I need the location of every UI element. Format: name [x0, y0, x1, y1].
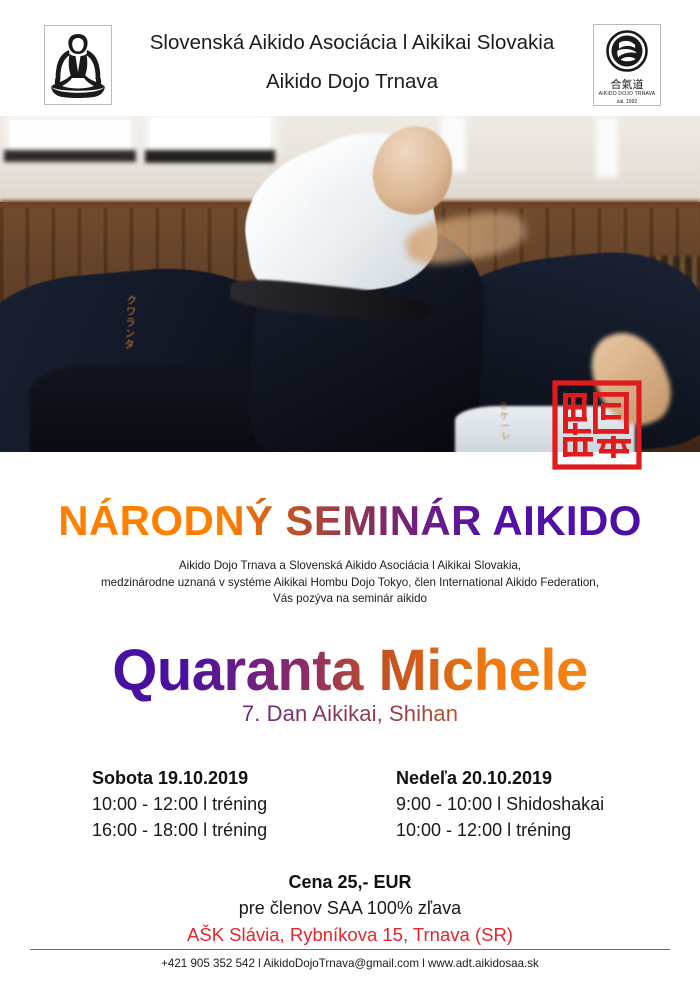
poster-header: Slovenská Aikido Asociácia l Aikikai Slo…: [0, 0, 700, 116]
photo-window-left-frame: [4, 150, 136, 162]
schedule-day-sunday: Nedeľa 20.10.2019 9:00 - 10:00 l Shidosh…: [350, 765, 700, 843]
price-section: Cena 25,- EUR pre členov SAA 100% zľava …: [0, 869, 700, 948]
schedule-slot: 16:00 - 18:00 l tréning: [92, 817, 350, 843]
schedule-day-title: Sobota 19.10.2019: [92, 765, 350, 791]
logo-founded-year: zal. 1992: [594, 99, 660, 106]
photo-hakama-left-lower: [30, 366, 280, 452]
presenter-name: Quaranta Michele: [0, 637, 700, 704]
organizer-line-1: Aikido Dojo Trnava a Slovenská Aikido As…: [0, 558, 700, 575]
schedule-slot: 10:00 - 12:00 l tréning: [92, 791, 350, 817]
venue-address: AŠK Slávia, Rybníkova 15, Trnava (SR): [0, 921, 700, 948]
header-title-block: Slovenská Aikido Asociácia l Aikikai Slo…: [118, 28, 586, 97]
schedule-section: Sobota 19.10.2019 10:00 - 12:00 l trénin…: [0, 765, 700, 843]
logo-kanji: 合氣道: [594, 79, 660, 90]
dojo-title: Aikido Dojo Trnava: [118, 67, 586, 97]
red-japanese-hanko-seal: [551, 379, 643, 471]
organizer-line-2: medzinárodne uznaná v systéme Aikikai Ho…: [0, 575, 700, 592]
photo-window-left: [10, 120, 130, 152]
organizer-description: Aikido Dojo Trnava a Slovenská Aikido As…: [0, 558, 700, 608]
schedule-slot: 10:00 - 12:00 l tréning: [396, 817, 700, 843]
aikido-seminar-poster: Slovenská Aikido Asociácia l Aikikai Slo…: [0, 0, 700, 988]
aikido-dojo-trnava-logo: 合氣道 AIKIDO DOJO TRNAVA zal. 1992: [593, 24, 661, 106]
organizer-line-3: Vás pozýva na seminár aikido: [0, 591, 700, 608]
price-amount: Cena 25,- EUR: [0, 869, 700, 895]
footer-contact: +421 905 352 542 l AikidoDojoTrnava@gmai…: [0, 955, 700, 973]
schedule-slot: 9:00 - 10:00 l Shidoshakai: [396, 791, 700, 817]
seiza-figure-icon: [45, 26, 111, 104]
seiza-figure-logo: [44, 25, 112, 105]
association-title: Slovenská Aikido Asociácia l Aikikai Slo…: [118, 28, 586, 58]
logo-circle-emblem: [594, 30, 660, 77]
schedule-day-title: Nedeľa 20.10.2019: [396, 765, 700, 791]
page-title: NÁRODNÝ SEMINÁR AIKIDO: [0, 497, 700, 545]
photo-window-mid-frame: [145, 150, 275, 163]
footer-divider: [30, 949, 670, 950]
logo-dojo-name: AIKIDO DOJO TRNAVA: [594, 91, 660, 98]
schedule-day-saturday: Sobota 19.10.2019 10:00 - 12:00 l trénin…: [0, 765, 350, 843]
price-discount-note: pre členov SAA 100% zľava: [0, 895, 700, 921]
hanko-seal-icon: [551, 379, 643, 471]
photo-window-right-b: [596, 116, 618, 178]
aikikai-circle-icon: [606, 30, 648, 72]
presenter-rank: 7. Dan Aikikai, Shihan: [0, 701, 700, 727]
photo-window-mid: [150, 118, 270, 152]
